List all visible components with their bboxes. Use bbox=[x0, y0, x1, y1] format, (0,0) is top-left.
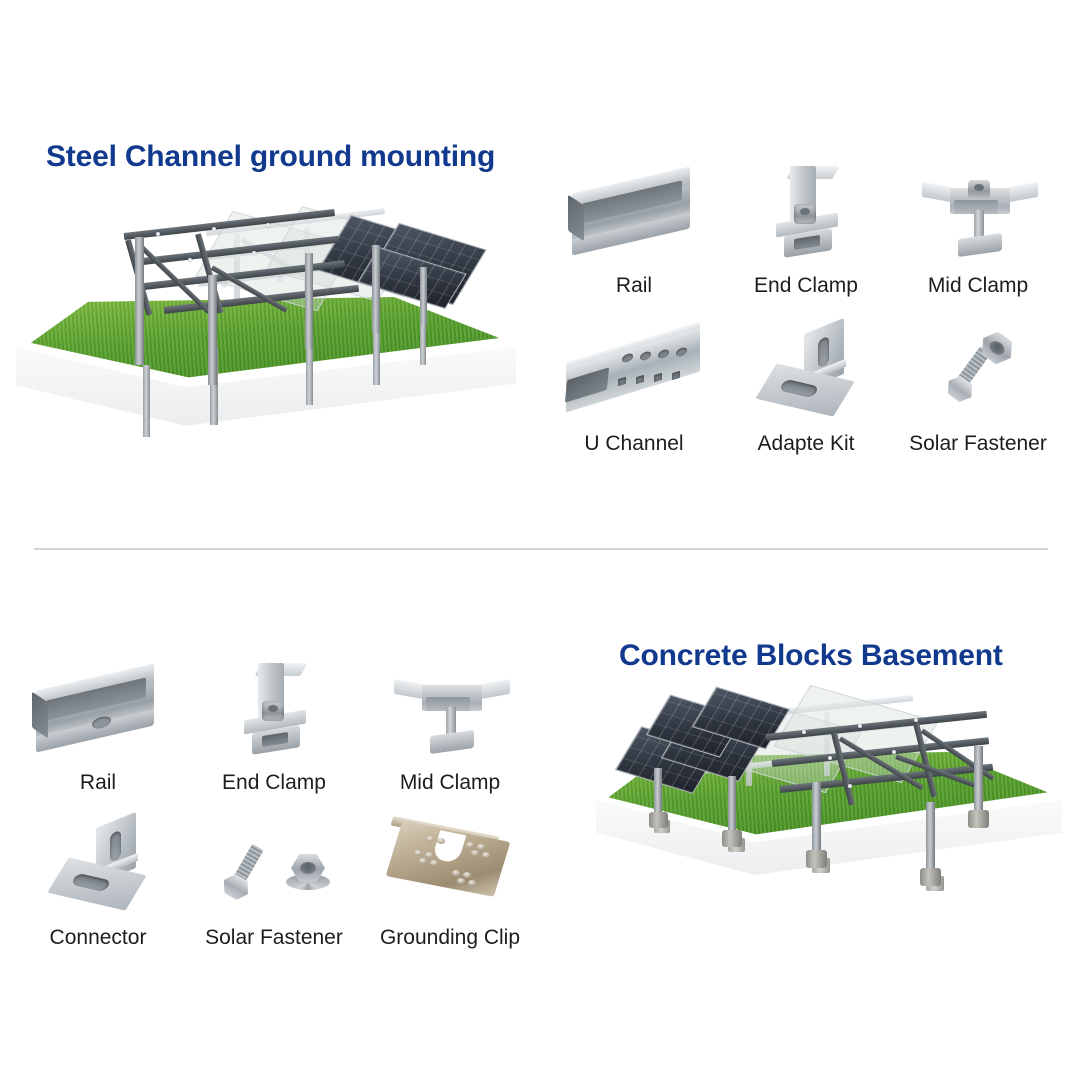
bolt-highlight bbox=[222, 283, 226, 287]
u-channel-strut-icon bbox=[560, 314, 708, 426]
ground-post bbox=[135, 237, 144, 365]
grounding-clip-icon bbox=[376, 808, 524, 920]
product-label: Mid Clamp bbox=[928, 274, 1028, 298]
steel-channel-ground-mount-render bbox=[16, 215, 536, 475]
angle-bracket-icon bbox=[24, 808, 172, 920]
bolt-highlight bbox=[156, 232, 160, 236]
infographic-page: Steel Channel ground mounting bbox=[0, 0, 1080, 1080]
end-clamp-icon bbox=[732, 156, 880, 268]
rail-c-channel-icon bbox=[24, 653, 172, 765]
end-clamp-icon bbox=[200, 653, 348, 765]
concrete-blocks-basement-render bbox=[596, 672, 1066, 922]
bolt-highlight bbox=[266, 223, 270, 227]
product-end-clamp[interactable]: End Clamp bbox=[186, 640, 362, 795]
concrete-footing bbox=[649, 812, 668, 828]
product-grounding-clip[interactable]: Grounding Clip bbox=[362, 795, 538, 950]
product-label: Mid Clamp bbox=[400, 771, 500, 795]
product-label: Rail bbox=[616, 274, 652, 298]
ground-post bbox=[974, 746, 983, 818]
ground-post-under bbox=[373, 327, 380, 385]
product-rail[interactable]: Rail bbox=[10, 640, 186, 795]
ground-post bbox=[208, 275, 217, 385]
bolt-highlight bbox=[828, 756, 832, 760]
bolt-highlight bbox=[188, 258, 192, 262]
bolt-highlight bbox=[848, 784, 852, 788]
hex-bolt-nut-icon bbox=[904, 314, 1052, 426]
product-rail[interactable]: Rail bbox=[548, 140, 720, 298]
ground-post bbox=[728, 776, 736, 838]
bolt-highlight bbox=[278, 277, 282, 281]
product-label: Rail bbox=[80, 771, 116, 795]
bolt-highlight bbox=[212, 227, 216, 231]
mid-clamp-icon bbox=[904, 156, 1052, 268]
product-label: Adapte Kit bbox=[758, 432, 855, 456]
product-adapte-kit[interactable]: Adapte Kit bbox=[720, 298, 892, 456]
section-divider bbox=[34, 548, 1048, 550]
angle-bracket-icon bbox=[732, 314, 880, 426]
product-mid-clamp[interactable]: Mid Clamp bbox=[892, 140, 1064, 298]
hex-bolt-flange-nut-icon bbox=[200, 808, 348, 920]
product-u-channel[interactable]: U Channel bbox=[548, 298, 720, 456]
product-mid-clamp[interactable]: Mid Clamp bbox=[362, 640, 538, 795]
bolt-highlight bbox=[252, 251, 256, 255]
bolt-highlight bbox=[892, 750, 896, 754]
product-grid-steel-channel: Rail End Clamp bbox=[548, 140, 1064, 456]
ground-post bbox=[420, 267, 427, 325]
concrete-footing bbox=[920, 868, 941, 886]
section-title-concrete-blocks: Concrete Blocks Basement bbox=[619, 639, 1003, 673]
section-title-steel-channel: Steel Channel ground mounting bbox=[46, 140, 495, 174]
product-connector[interactable]: Connector bbox=[10, 795, 186, 950]
bolt-highlight bbox=[914, 718, 918, 722]
ground-post-under bbox=[420, 319, 426, 365]
rail-c-channel-icon bbox=[560, 156, 708, 268]
ground-post-under bbox=[143, 365, 150, 437]
product-label: End Clamp bbox=[754, 274, 858, 298]
product-grid-concrete-blocks: Rail End Clamp bbox=[10, 640, 538, 950]
product-label: U Channel bbox=[584, 432, 683, 456]
ground-post bbox=[372, 245, 380, 333]
product-label: Solar Fastener bbox=[205, 926, 343, 950]
product-label: End Clamp bbox=[222, 771, 326, 795]
product-end-clamp[interactable]: End Clamp bbox=[720, 140, 892, 298]
bolt-highlight bbox=[858, 724, 862, 728]
ground-post bbox=[926, 802, 935, 876]
product-solar-fastener[interactable]: Solar Fastener bbox=[186, 795, 362, 950]
product-label: Grounding Clip bbox=[380, 926, 520, 950]
concrete-footing bbox=[968, 810, 989, 828]
bolt-highlight bbox=[802, 730, 806, 734]
concrete-footing bbox=[806, 850, 827, 868]
concrete-footing bbox=[722, 830, 742, 847]
product-label: Connector bbox=[50, 926, 147, 950]
product-solar-fastener[interactable]: Solar Fastener bbox=[892, 298, 1064, 456]
mid-clamp-icon bbox=[376, 653, 524, 765]
ground-post bbox=[812, 782, 821, 858]
product-label: Solar Fastener bbox=[909, 432, 1047, 456]
ground-post bbox=[305, 253, 313, 349]
